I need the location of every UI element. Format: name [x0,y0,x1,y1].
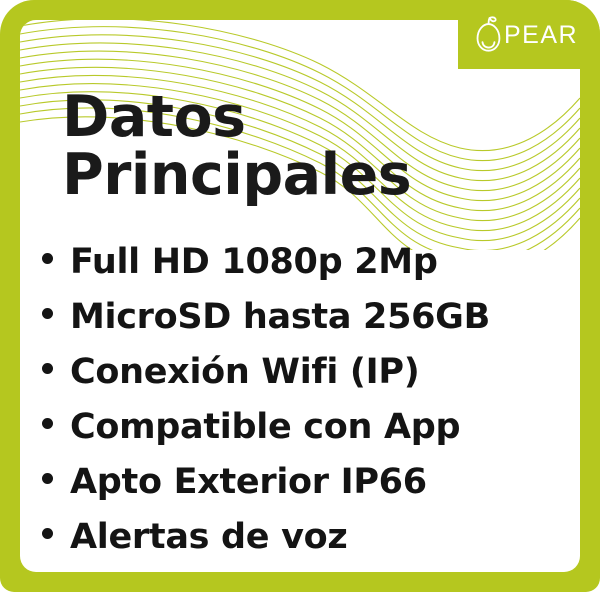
list-item: Alertas de voz [42,517,562,572]
feature-label: MicroSD hasta 256GB [70,297,490,337]
feature-label: Apto Exterior IP66 [70,462,427,502]
card-inner-panel: Datos Principales Full HD 1080p 2Mp Micr… [20,20,580,572]
brand-logo-band: PEAR [458,0,600,69]
feature-label: Conexión Wifi (IP) [70,352,419,392]
feature-list: Full HD 1080p 2Mp MicroSD hasta 256GB Co… [42,242,562,572]
bullet-dot-icon [42,363,53,374]
pear-icon [470,15,506,55]
bullet-dot-icon [42,473,53,484]
bullet-dot-icon [42,253,53,264]
list-item: Apto Exterior IP66 [42,462,562,517]
feature-label: Compatible con App [70,407,460,447]
feature-label: Alertas de voz [70,517,347,557]
list-item: MicroSD hasta 256GB [42,297,562,352]
bullet-dot-icon [42,418,53,429]
bullet-dot-icon [42,528,53,539]
list-item: Compatible con App [42,407,562,462]
brand-logo: PEAR [458,0,600,69]
bullet-dot-icon [42,308,53,319]
list-item: Full HD 1080p 2Mp [42,242,562,297]
product-spec-card: Datos Principales Full HD 1080p 2Mp Micr… [0,0,600,600]
brand-name: PEAR [504,23,578,48]
page-title: Datos Principales [62,88,411,204]
list-item: Conexión Wifi (IP) [42,352,562,407]
feature-label: Full HD 1080p 2Mp [70,242,438,282]
